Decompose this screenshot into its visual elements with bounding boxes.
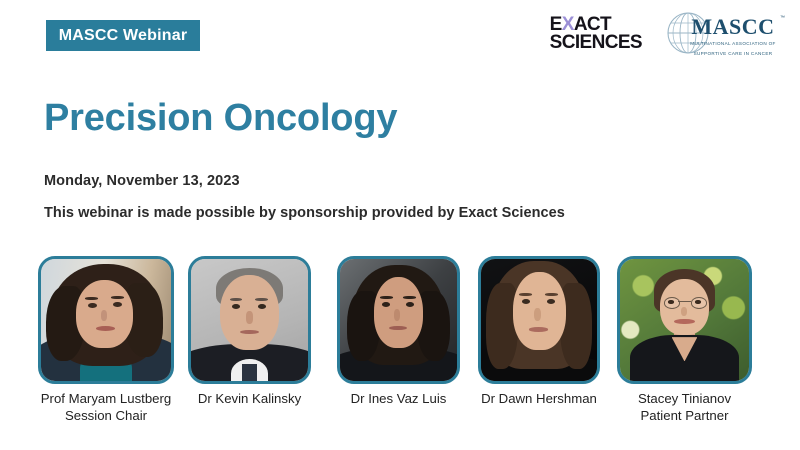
trademark-symbol: ™ — [780, 15, 785, 21]
speaker-card: Dr Ines Vaz Luis — [337, 256, 460, 384]
speaker-name: Prof Maryam Lustberg — [41, 391, 171, 406]
speaker-photo — [337, 256, 460, 384]
page-title: Precision Oncology — [44, 99, 397, 137]
mascc-wordmark-block: MASCC MULTINATIONAL ASSOCIATION OF SUPPO… — [680, 16, 786, 58]
speaker-name: Stacey Tinianov — [638, 391, 731, 406]
portrait-stacey-tinianov — [620, 259, 749, 381]
mascc-webinar-badge: MASCC Webinar — [46, 20, 200, 51]
speaker-photo — [38, 256, 174, 384]
speaker-card: Stacey Tinianov Patient Partner — [617, 256, 752, 384]
exact-sciences-logo: EXACT SCIENCES — [550, 16, 642, 52]
mascc-tagline-line2: SUPPORTIVE CARE IN CANCER — [680, 51, 786, 58]
sponsor-statement: This webinar is made possible by sponsor… — [44, 205, 565, 221]
badge-label: MASCC Webinar — [59, 28, 188, 44]
speaker-card: Dr Dawn Hershman — [478, 256, 600, 384]
speaker-role: Session Chair — [11, 407, 201, 424]
speaker-role: Patient Partner — [590, 407, 780, 424]
speaker-name: Dr Dawn Hershman — [481, 391, 597, 406]
speaker-row: Prof Maryam Lustberg Session Chair Dr Ke… — [0, 256, 800, 446]
webinar-slide: MASCC Webinar EXACT SCIENCES MASCC MULTI… — [0, 0, 800, 450]
exact-sciences-wordmark-line2: SCIENCES — [550, 34, 642, 52]
speaker-card: Prof Maryam Lustberg Session Chair — [38, 256, 174, 384]
webinar-date: Monday, November 13, 2023 — [44, 173, 240, 189]
logo-row: EXACT SCIENCES MASCC MULTINATIONAL ASSOC… — [550, 10, 786, 58]
speaker-card: Dr Kevin Kalinsky — [188, 256, 311, 384]
portrait-maryam-lustberg — [41, 259, 171, 381]
portrait-kevin-kalinsky — [191, 259, 308, 381]
portrait-ines-vaz-luis — [340, 259, 457, 381]
mascc-tagline-line1: MULTINATIONAL ASSOCIATION OF — [680, 41, 786, 48]
portrait-dawn-hershman — [481, 259, 597, 381]
mascc-wordmark: MASCC — [680, 16, 786, 38]
mascc-logo: MASCC MULTINATIONAL ASSOCIATION OF SUPPO… — [666, 10, 786, 58]
speaker-photo — [188, 256, 311, 384]
speaker-name: Dr Ines Vaz Luis — [351, 391, 447, 406]
speaker-photo — [478, 256, 600, 384]
speaker-photo — [617, 256, 752, 384]
speaker-caption: Stacey Tinianov Patient Partner — [590, 390, 780, 425]
speaker-name: Dr Kevin Kalinsky — [198, 391, 301, 406]
